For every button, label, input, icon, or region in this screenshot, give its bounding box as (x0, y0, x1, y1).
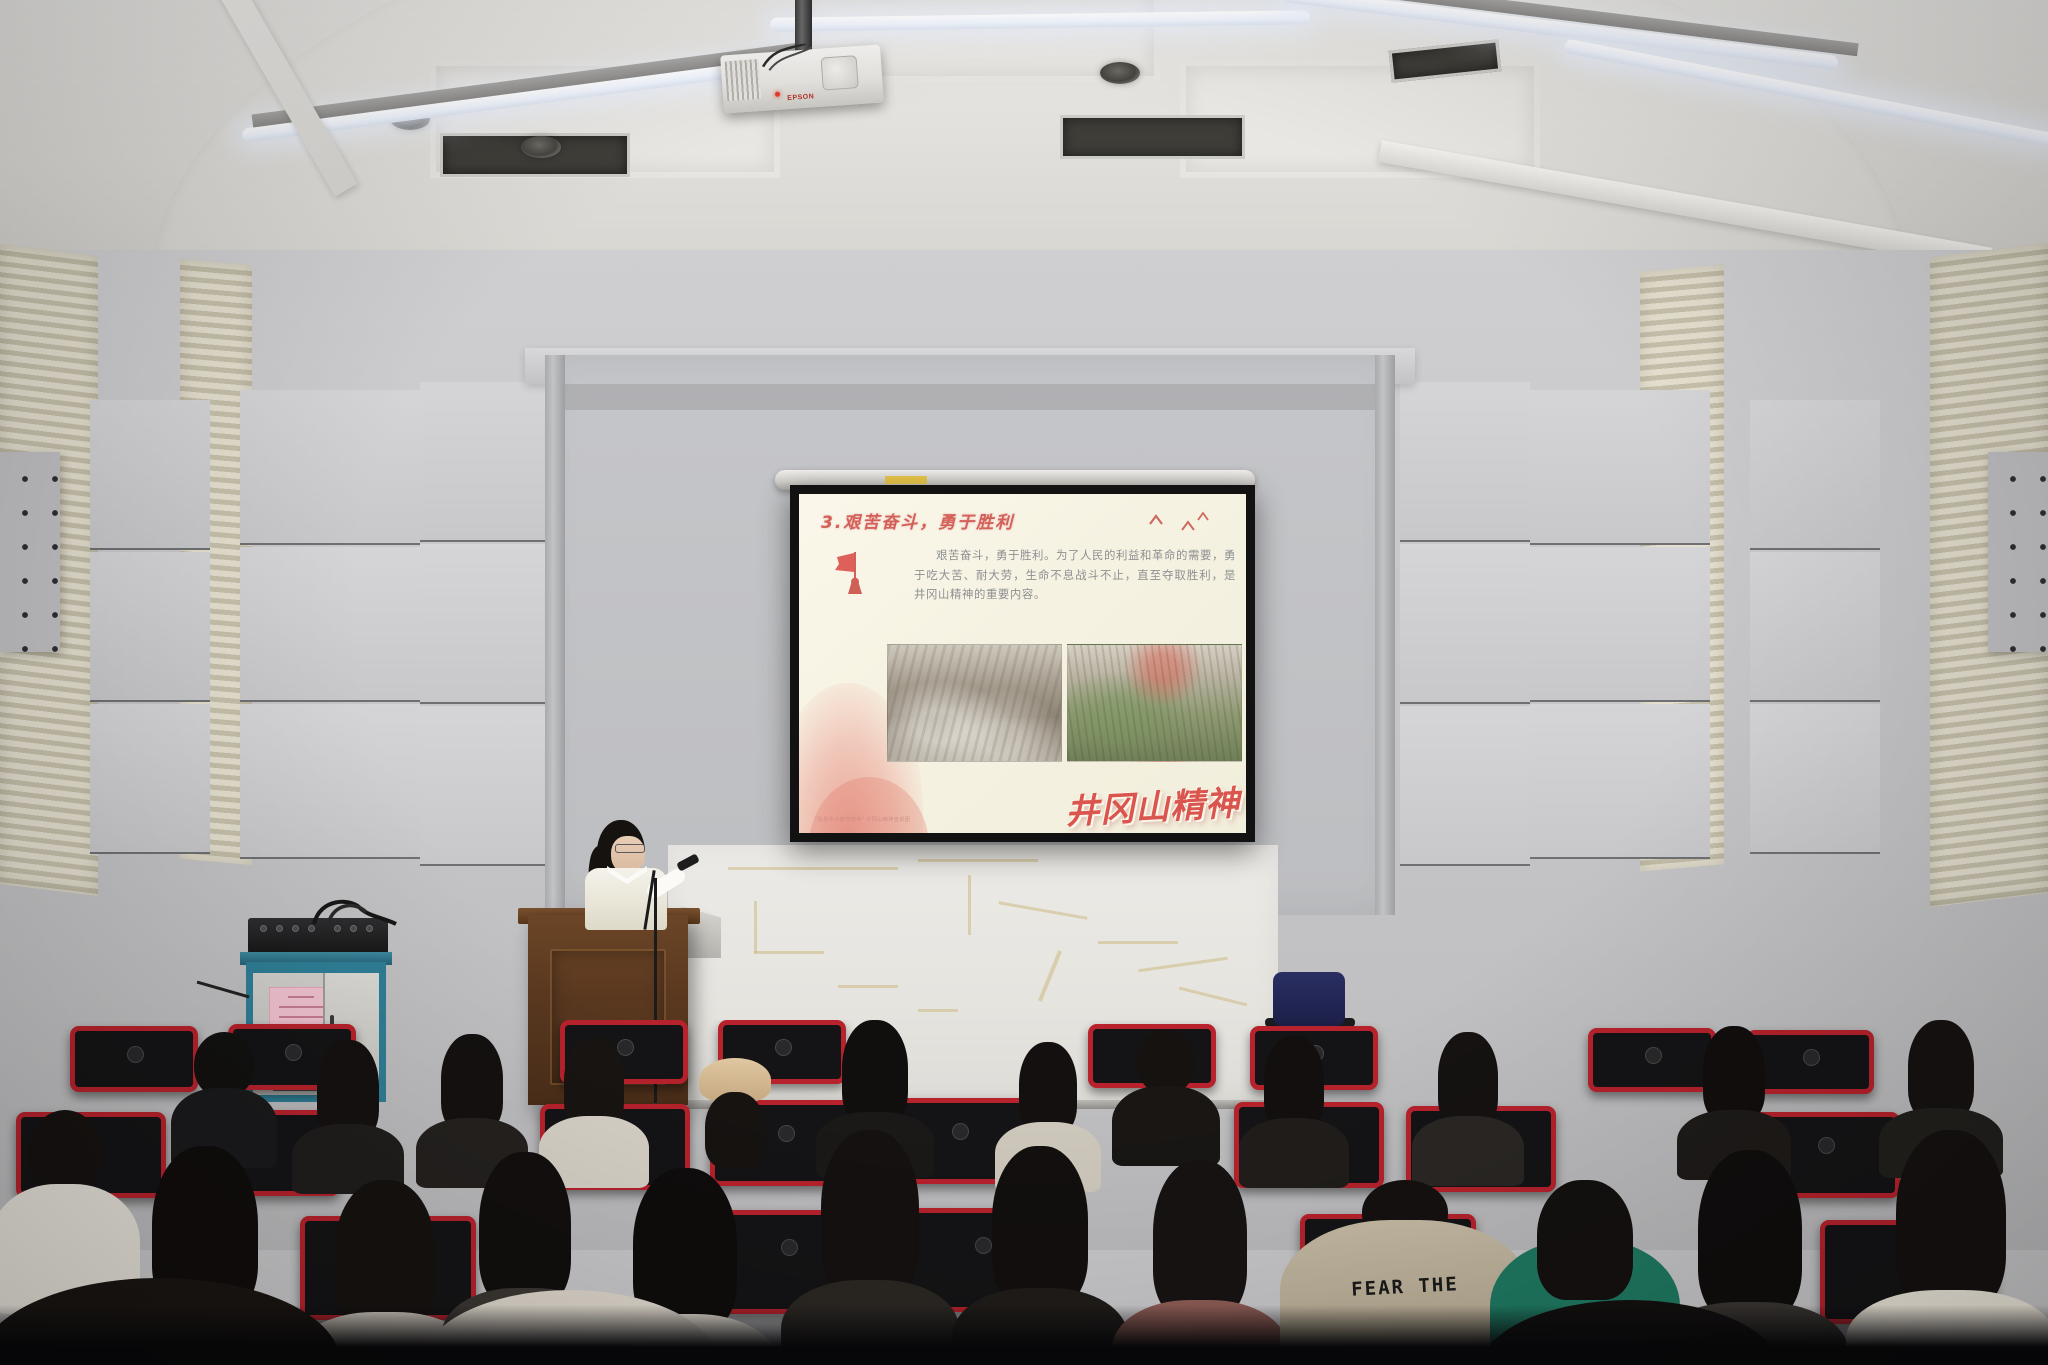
wall-panel-left-3 (90, 704, 210, 854)
screen-surface: 3.艰苦奋斗，勇于胜利 艰苦奋斗，勇于胜利。为了人民的利益和革命的需要，勇于吃大… (799, 494, 1246, 833)
mixer-knob-icon[interactable] (334, 925, 341, 932)
slide-title: 3.艰苦奋斗，勇于胜利 (821, 508, 1014, 533)
whiteboard-residue-mark (968, 875, 971, 935)
audience-member (1420, 1032, 1516, 1162)
mixer-knob-icon[interactable] (308, 925, 315, 932)
whiteboard-residue-mark (1038, 950, 1062, 1002)
mixer-knob-icon[interactable] (276, 925, 283, 932)
foreground-shadow (0, 1305, 2048, 1365)
audience-head (479, 1152, 571, 1306)
whiteboard-residue-mark (1098, 941, 1178, 944)
projector-vent-icon (725, 59, 762, 101)
audience-shoulders (1112, 1086, 1220, 1166)
wall-panel-right-7 (1750, 400, 1880, 550)
mixer-cable-icon (310, 896, 400, 926)
audience-head (1137, 1030, 1195, 1094)
audience-member (424, 1034, 520, 1164)
wall-panel-right-9 (1750, 704, 1880, 854)
audience-seating: FEAR THE (0, 1020, 2048, 1365)
acoustic-perforated-panel-left (0, 452, 60, 652)
audience-head (1153, 1160, 1247, 1318)
wall-panel-left-4 (240, 390, 420, 545)
whiteboard-residue-mark (754, 951, 824, 954)
slide-footnote: "弘扬伟大建党精神" 井冈山精神宣讲团 (815, 816, 910, 823)
wall-panel-left-8 (420, 544, 550, 704)
wall-panel-right-1 (1400, 382, 1530, 542)
audience-head (705, 1092, 765, 1168)
red-flag-icon (833, 550, 879, 608)
proscenium-column-right (1375, 355, 1395, 915)
audience-member (1246, 1036, 1342, 1166)
slide-photo-left (887, 644, 1062, 762)
presentation-slide: 3.艰苦奋斗，勇于胜利 艰苦奋斗，勇于胜利。为了人民的利益和革命的需要，勇于吃大… (799, 494, 1246, 833)
audience-head (842, 1020, 908, 1124)
mixer-knob-icon[interactable] (260, 925, 267, 932)
projector-power-led-icon (775, 92, 780, 97)
audience-head (1896, 1130, 2006, 1310)
projector-brand-label: EPSON (787, 93, 814, 102)
whiteboard-residue-mark (918, 1009, 958, 1012)
whiteboard-residue-mark (1179, 987, 1248, 1007)
audience-head (1703, 1026, 1765, 1122)
slide-body-text: 艰苦奋斗，勇于胜利。为了人民的利益和革命的需要，勇于吃大苦、耐大劳，生命不息战斗… (914, 546, 1236, 605)
wall-panel-right-4 (1530, 390, 1710, 545)
wall-panel-left-6 (240, 704, 420, 859)
wall-panel-right-3 (1400, 706, 1530, 866)
audience-member (1686, 1026, 1782, 1156)
projection-screen: 3.艰苦奋斗，勇于胜利 艰苦奋斗，勇于胜利。为了人民的利益和革命的需要，勇于吃大… (790, 485, 1255, 842)
mixer-knob-icon[interactable] (292, 925, 299, 932)
audience-head (821, 1130, 919, 1298)
wall-panel-left-1 (90, 400, 210, 550)
audience-member (546, 1038, 642, 1168)
proscenium-shadow (565, 384, 1375, 410)
audience-member (0, 1110, 130, 1300)
audience-shoulders (1412, 1116, 1524, 1186)
audience-member (176, 1030, 272, 1160)
audience-head (1264, 1036, 1324, 1130)
wall-panel-right-8 (1750, 552, 1880, 702)
whiteboard-residue-mark (918, 859, 1038, 862)
audience-member (300, 1040, 396, 1170)
whiteboard-residue-mark (838, 985, 898, 988)
slide-photo-right (1067, 644, 1242, 762)
notice-text-line (288, 996, 314, 998)
mixer-knob-icon[interactable] (350, 925, 357, 932)
wall-panel-left-7 (420, 382, 550, 542)
auditorium-scene: EPSON (0, 0, 2048, 1365)
wall-panel-right-5 (1530, 547, 1710, 702)
audience-head (1698, 1150, 1802, 1320)
slide-wordart-title: 井冈山精神 (1064, 775, 1241, 833)
audience-head (1908, 1020, 1974, 1120)
wall-panel-right-2 (1400, 544, 1530, 704)
whiteboard-residue-mark (998, 901, 1087, 920)
mixer-knob-icon[interactable] (366, 925, 373, 932)
presenter (575, 820, 695, 930)
audio-mixer[interactable] (248, 918, 388, 954)
screen-housing-label-sticker (885, 476, 927, 484)
proscenium-column-left (545, 355, 565, 915)
notice-text-line (279, 1016, 323, 1018)
glasses-icon (615, 844, 645, 853)
downlight-icon-2 (1100, 62, 1140, 84)
ceiling-projector: EPSON (720, 44, 884, 113)
whiteboard-residue-mark (1138, 957, 1228, 972)
audience-head (1537, 1180, 1633, 1300)
birds-icon (1144, 510, 1214, 536)
whiteboard-residue-mark (728, 867, 898, 870)
wall-panel-left-2 (90, 552, 210, 702)
whiteboard-residue-mark (754, 901, 757, 953)
projector-cables-icon (760, 42, 832, 73)
downlight-icon-1 (521, 136, 561, 158)
audience-head (1019, 1042, 1077, 1134)
chair-backrest (1273, 972, 1345, 1026)
audience-head (992, 1146, 1088, 1306)
notice-text-line (279, 1006, 323, 1008)
wall-panel-right-6 (1530, 704, 1710, 859)
wall-panel-left-5 (240, 547, 420, 702)
audience-member (1118, 1030, 1214, 1160)
hvac-vent-right (1060, 115, 1245, 159)
acoustic-perforated-panel-right (1988, 452, 2048, 652)
wall-panel-left-9 (420, 706, 550, 866)
audience-head (1438, 1032, 1498, 1128)
